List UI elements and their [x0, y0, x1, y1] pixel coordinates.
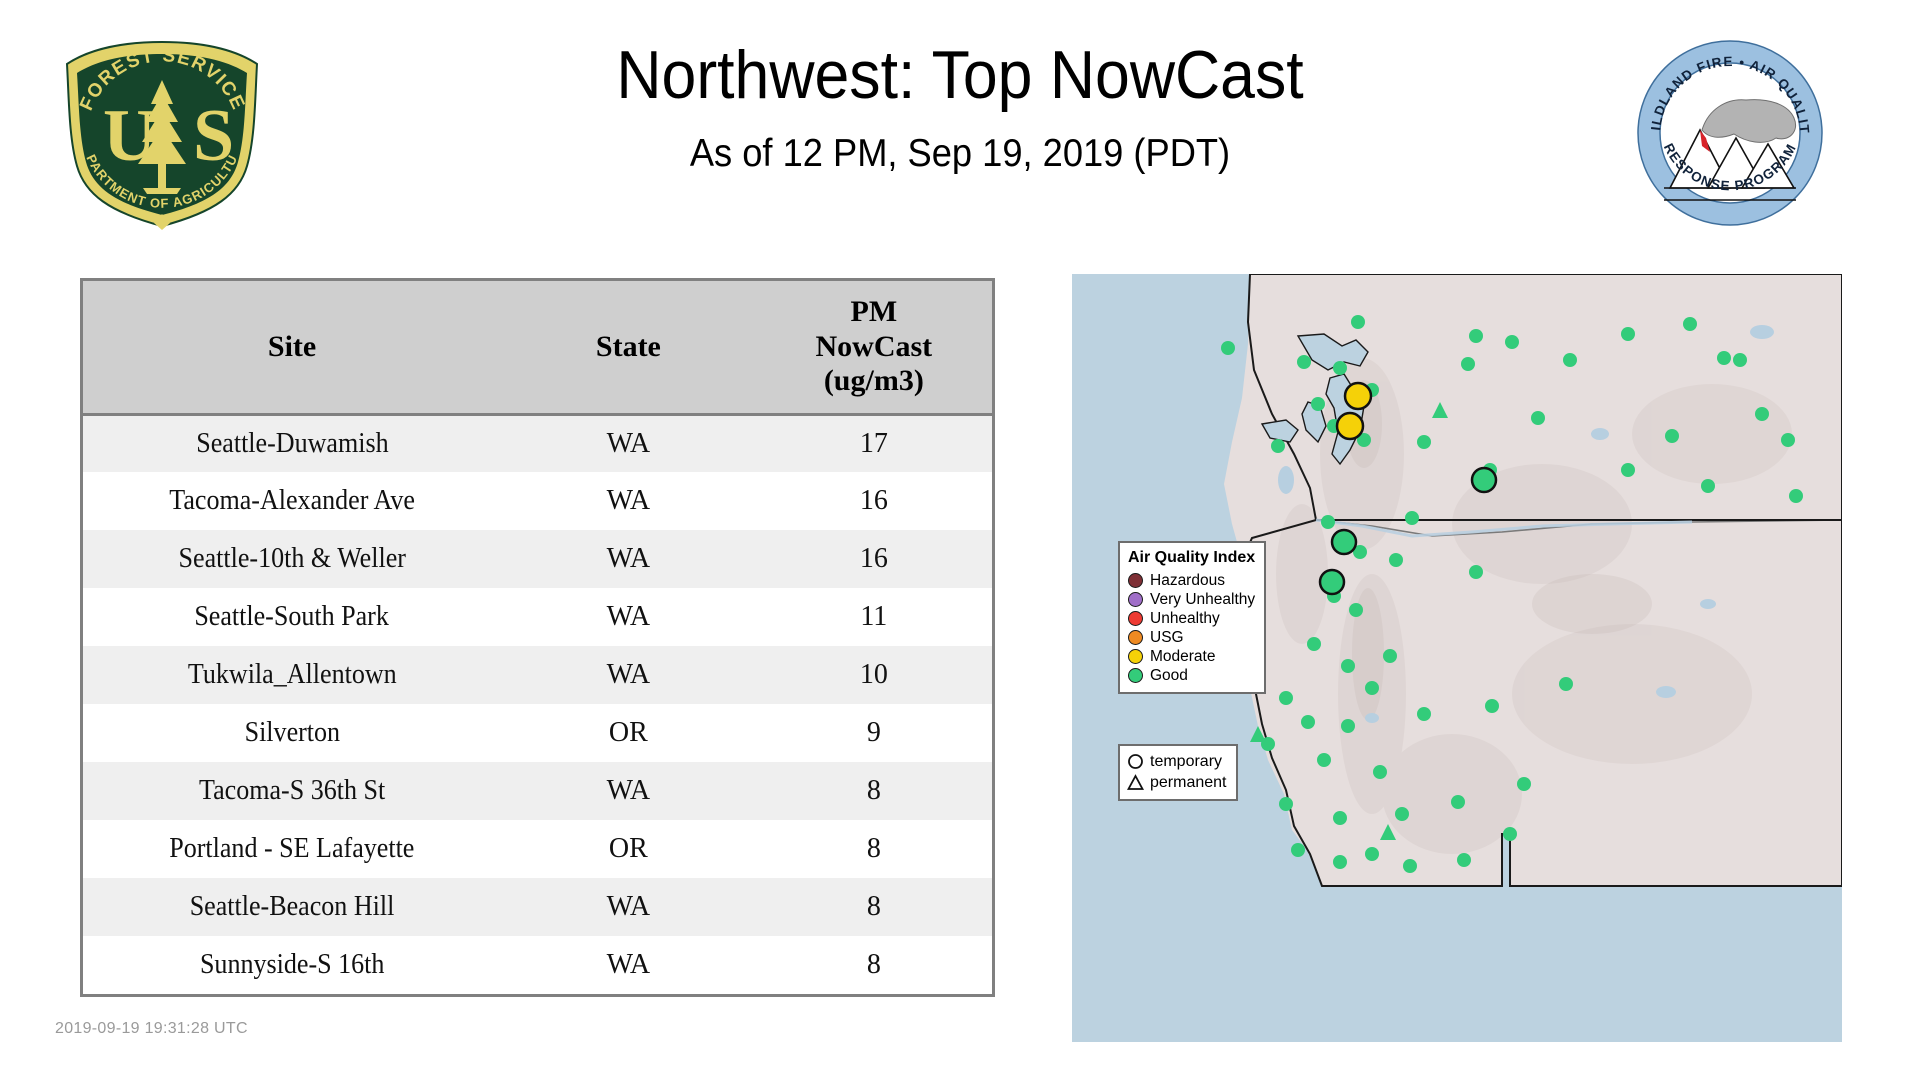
cell-site: Seattle-Duwamish — [83, 414, 501, 472]
cell-site-text: Seattle-Duwamish — [196, 428, 388, 460]
aqi-legend-item: Good — [1128, 666, 1255, 685]
cell-state: WA — [501, 762, 756, 820]
aqi-swatch-icon — [1128, 668, 1143, 683]
cell-site: Sunnyside-S 16th — [83, 936, 501, 994]
cell-state: OR — [501, 704, 756, 762]
station-type-legend: temporary permanent — [1118, 744, 1238, 801]
wildland-fire-air-quality-seal-icon: WILDLAND FIRE • AIR QUALITY RESPONSE PRO… — [1630, 38, 1830, 228]
table-header: Site State PM NowCast (ug/m3) — [83, 281, 992, 414]
station-legend-temporary: temporary — [1127, 751, 1227, 772]
cell-site-text: Portland - SE Lafayette — [169, 833, 414, 865]
cell-state: WA — [501, 936, 756, 994]
column-header-pm-line-2: NowCast — [760, 330, 988, 365]
aqi-legend: Air Quality Index HazardousVery Unhealth… — [1118, 541, 1266, 694]
column-header-site[interactable]: Site — [83, 281, 501, 414]
cell-pm-nowcast: 16 — [756, 472, 992, 530]
aqi-legend-item-label: Hazardous — [1150, 573, 1225, 589]
aqi-swatch-icon — [1128, 630, 1143, 645]
aqi-swatch-icon — [1128, 592, 1143, 607]
cell-pm-nowcast: 8 — [756, 936, 992, 994]
cell-site: Tacoma-S 36th St — [83, 762, 501, 820]
cell-site-text: Sunnyside-S 16th — [200, 949, 384, 981]
aqi-legend-item-label: Very Unhealthy — [1150, 592, 1255, 608]
station-legend-permanent: permanent — [1127, 772, 1227, 793]
cell-pm-nowcast: 11 — [756, 588, 992, 646]
table-row[interactable]: Seattle-DuwamishWA17 — [83, 414, 992, 472]
cell-site-text: Seattle-10th & Weller — [178, 543, 405, 575]
cell-site: Silverton — [83, 704, 501, 762]
cell-state: WA — [501, 530, 756, 588]
table-row[interactable]: Tacoma-S 36th StWA8 — [83, 762, 992, 820]
usda-forest-service-shield-icon: U S FOREST SERVICE DEPARTMENT OF AGRICUL… — [55, 30, 270, 230]
nowcast-table: Site State PM NowCast (ug/m3) Seattle-Du… — [83, 281, 992, 994]
cell-site-text: Tacoma-Alexander Ave — [169, 485, 415, 517]
nowcast-table-container: Site State PM NowCast (ug/m3) Seattle-Du… — [80, 278, 995, 997]
aqi-legend-item: USG — [1128, 628, 1255, 647]
aqi-legend-item-label: Moderate — [1150, 649, 1215, 665]
table-row[interactable]: Portland - SE LafayetteOR8 — [83, 820, 992, 878]
cell-pm-nowcast: 9 — [756, 704, 992, 762]
aqi-legend-item-label: USG — [1150, 630, 1184, 646]
aqi-legend-rows: HazardousVery UnhealthyUnhealthyUSGModer… — [1128, 571, 1255, 685]
column-header-state[interactable]: State — [501, 281, 756, 414]
cell-site: Seattle-Beacon Hill — [83, 878, 501, 936]
aqi-legend-item: Hazardous — [1128, 571, 1255, 590]
table-row[interactable]: Seattle-Beacon HillWA8 — [83, 878, 992, 936]
cell-site: Seattle-10th & Weller — [83, 530, 501, 588]
aqi-swatch-icon — [1128, 611, 1143, 626]
cell-site-text: Tukwila_Allentown — [188, 659, 397, 691]
column-header-pm-line-3: (ug/m3) — [760, 364, 988, 399]
cell-pm-nowcast: 17 — [756, 414, 992, 472]
page-header: U S FOREST SERVICE DEPARTMENT OF AGRICUL… — [0, 0, 1920, 230]
aqi-legend-item: Unhealthy — [1128, 609, 1255, 628]
cell-site-text: Seattle-Beacon Hill — [190, 891, 395, 923]
generation-timestamp: 2019-09-19 19:31:28 UTC — [55, 1020, 248, 1038]
aqi-legend-item-label: Good — [1150, 668, 1188, 684]
cell-site: Tacoma-Alexander Ave — [83, 472, 501, 530]
air-quality-map[interactable]: Air Quality Index HazardousVery Unhealth… — [1072, 274, 1842, 1042]
table-row[interactable]: Tacoma-Alexander AveWA16 — [83, 472, 992, 530]
column-header-pm-line-1: PM — [760, 295, 988, 330]
cell-state: OR — [501, 820, 756, 878]
cell-pm-nowcast: 8 — [756, 762, 992, 820]
title-block: Northwest: Top NowCast As of 12 PM, Sep … — [300, 40, 1620, 176]
table-row[interactable]: Seattle-10th & WellerWA16 — [83, 530, 992, 588]
page-subtitle: As of 12 PM, Sep 19, 2019 (PDT) — [346, 133, 1574, 176]
triangle-marker-icon — [1127, 773, 1144, 792]
cell-site-text: Seattle-South Park — [195, 601, 390, 633]
aqi-legend-item: Moderate — [1128, 647, 1255, 666]
cell-site: Seattle-South Park — [83, 588, 501, 646]
cell-site-text: Tacoma-S 36th St — [199, 775, 385, 807]
aqi-legend-item: Very Unhealthy — [1128, 590, 1255, 609]
aqi-swatch-icon — [1128, 649, 1143, 664]
table-row[interactable]: Sunnyside-S 16thWA8 — [83, 936, 992, 994]
station-legend-permanent-label: permanent — [1150, 774, 1227, 792]
station-legend-temporary-label: temporary — [1150, 753, 1222, 771]
cell-pm-nowcast: 10 — [756, 646, 992, 704]
table-header-row: Site State PM NowCast (ug/m3) — [83, 281, 992, 414]
cell-pm-nowcast: 8 — [756, 820, 992, 878]
cell-state: WA — [501, 588, 756, 646]
cell-state: WA — [501, 414, 756, 472]
cell-state: WA — [501, 472, 756, 530]
aqi-swatch-icon — [1128, 573, 1143, 588]
table-row[interactable]: Seattle-South ParkWA11 — [83, 588, 992, 646]
cell-site: Portland - SE Lafayette — [83, 820, 501, 878]
table-row[interactable]: SilvertonOR9 — [83, 704, 992, 762]
table-row[interactable]: Tukwila_AllentownWA10 — [83, 646, 992, 704]
column-header-pm-nowcast[interactable]: PM NowCast (ug/m3) — [756, 281, 992, 414]
page-title: Northwest: Top NowCast — [353, 40, 1567, 111]
cell-site-text: Silverton — [244, 717, 339, 749]
aqi-legend-title: Air Quality Index — [1128, 549, 1255, 567]
cell-pm-nowcast: 8 — [756, 878, 992, 936]
cell-site: Tukwila_Allentown — [83, 646, 501, 704]
cell-state: WA — [501, 646, 756, 704]
aqi-legend-item-label: Unhealthy — [1150, 611, 1220, 627]
table-body: Seattle-DuwamishWA17Tacoma-Alexander Ave… — [83, 414, 992, 994]
circle-marker-icon — [1127, 752, 1144, 771]
cell-pm-nowcast: 16 — [756, 530, 992, 588]
cell-state: WA — [501, 878, 756, 936]
